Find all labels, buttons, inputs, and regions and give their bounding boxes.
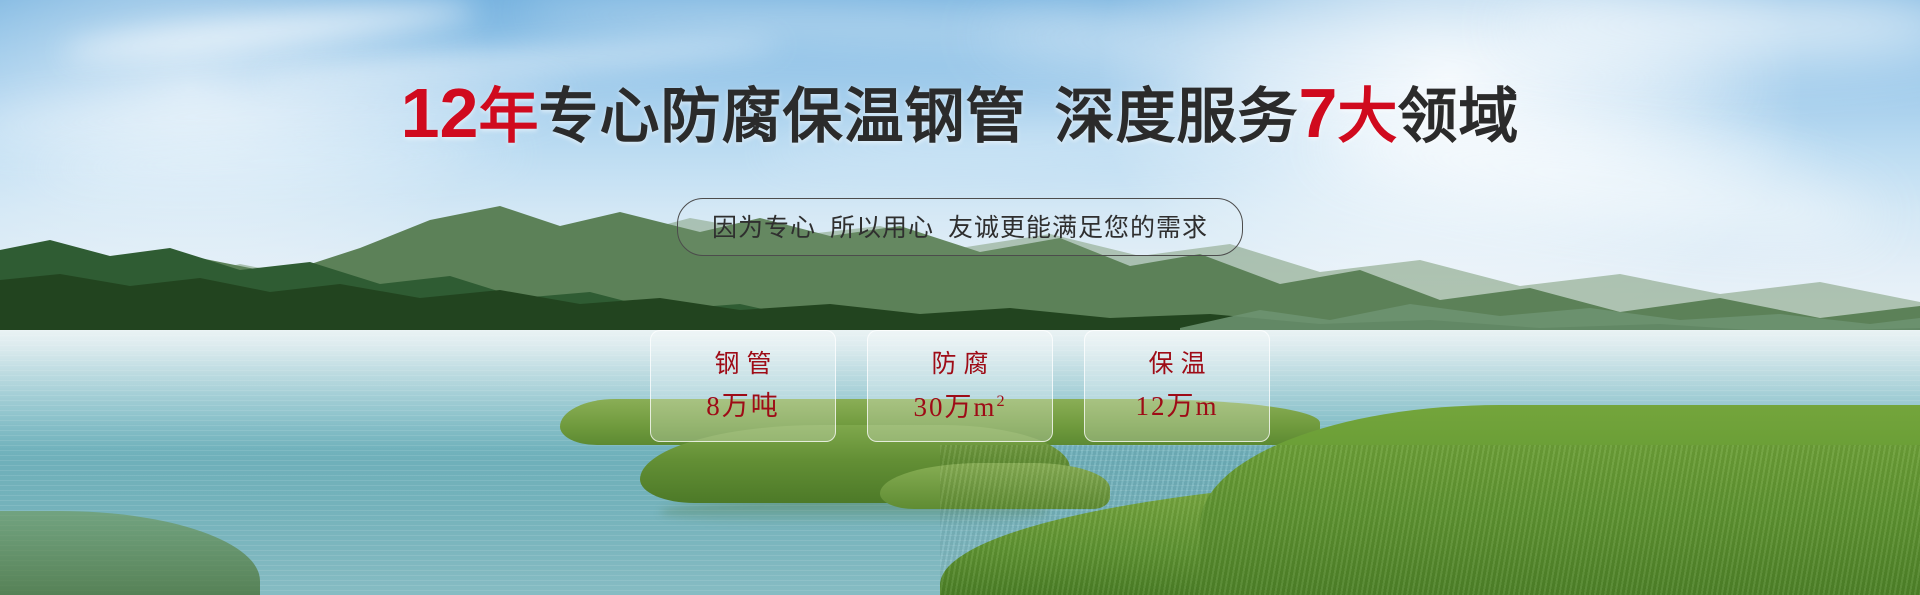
stat-card-value-text: 8万吨 bbox=[706, 391, 780, 421]
stat-card-value-text: 12万m bbox=[1135, 391, 1218, 421]
headline-fields-number: 7 bbox=[1298, 74, 1337, 152]
subtitle-segment-1: 因为专心 bbox=[712, 214, 816, 242]
stat-card-title: 保温 bbox=[1141, 352, 1212, 377]
banner-content: 12年专心防腐保温钢管深度服务7大领域 因为专心所以用心友诚更能满足您的需求 钢… bbox=[0, 0, 1920, 595]
stat-card-anticorrosion: 防腐 30万m2 bbox=[867, 330, 1053, 442]
headline-years-number: 12 bbox=[401, 74, 479, 152]
stat-card-title: 钢管 bbox=[707, 352, 778, 377]
stat-card-value-exponent: 2 bbox=[996, 392, 1006, 410]
page-title: 12年专心防腐保温钢管深度服务7大领域 bbox=[0, 78, 1920, 148]
subtitle-pill: 因为专心所以用心友诚更能满足您的需求 bbox=[677, 198, 1243, 256]
stats-card-group: 钢管 8万吨 防腐 30万m2 保温 12万m bbox=[650, 330, 1270, 442]
headline-text-tertiary: 领域 bbox=[1397, 83, 1519, 150]
headline-text-secondary: 深度服务 bbox=[1054, 83, 1298, 150]
stat-card-steel-pipe: 钢管 8万吨 bbox=[650, 330, 836, 442]
subtitle-container: 因为专心所以用心友诚更能满足您的需求 bbox=[0, 198, 1920, 256]
headline-fields-unit: 大 bbox=[1337, 83, 1397, 150]
subtitle-segment-3: 友诚更能满足您的需求 bbox=[948, 214, 1208, 242]
stat-card-value: 12万m bbox=[1135, 393, 1218, 420]
headline-years-unit: 年 bbox=[478, 83, 538, 150]
stat-card-value: 8万吨 bbox=[706, 393, 780, 420]
stat-card-value-text: 30万m bbox=[913, 392, 996, 422]
headline-text-primary: 专心防腐保温钢管 bbox=[538, 83, 1026, 150]
stat-card-value: 30万m2 bbox=[913, 393, 1006, 421]
promo-banner: 12年专心防腐保温钢管深度服务7大领域 因为专心所以用心友诚更能满足您的需求 钢… bbox=[0, 0, 1920, 595]
subtitle-segment-2: 所以用心 bbox=[830, 214, 934, 242]
stat-card-title: 防腐 bbox=[924, 352, 995, 377]
stat-card-insulation: 保温 12万m bbox=[1084, 330, 1270, 442]
